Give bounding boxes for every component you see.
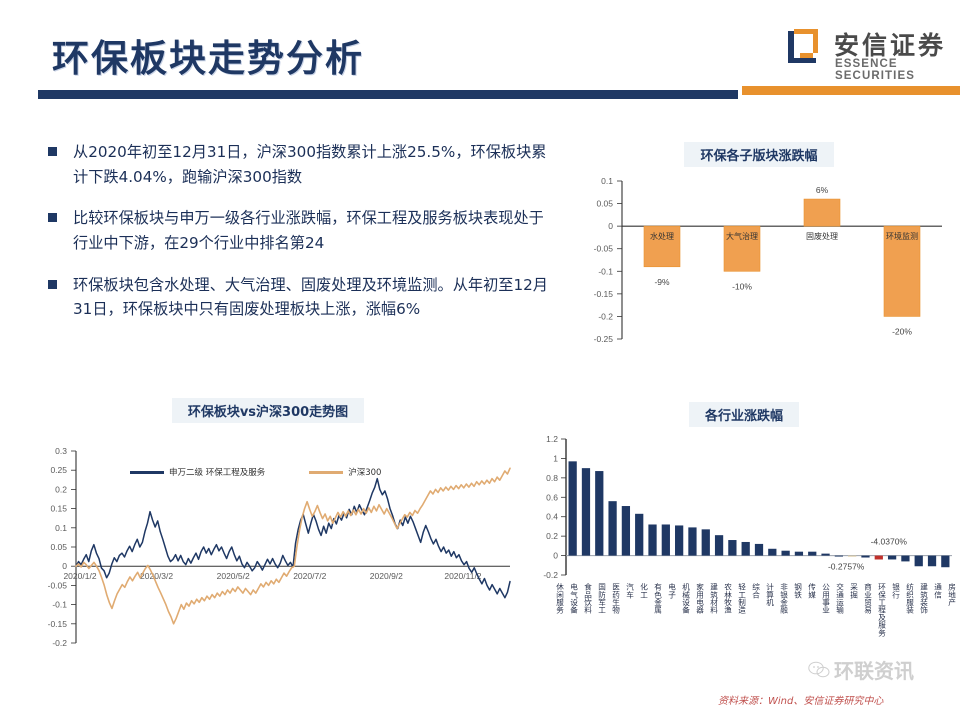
bar xyxy=(728,540,736,556)
bar xyxy=(755,544,763,556)
legend-item-huanbao: 申万二级 环保工程及服务 xyxy=(130,466,265,478)
bar-category-label: 通信 xyxy=(934,583,942,678)
chart-subsector-title-row: 环保各子版块涨跌幅 xyxy=(566,142,952,167)
axis-tick-label: 0.2 xyxy=(55,484,67,494)
bar xyxy=(808,552,816,556)
watermark-text: 环联资讯 xyxy=(834,655,914,684)
watermark: 环联资讯 xyxy=(808,655,914,684)
list-item: 比较环保板块与申万一级各行业涨跌幅，环保工程及服务板块表现处于行业中下游，在29… xyxy=(48,206,548,255)
logo-english-name: ESSENCE SECURITIES xyxy=(835,58,960,82)
axis-tick-label: 0.4 xyxy=(546,512,558,522)
axis-tick-label: 0.1 xyxy=(55,523,67,533)
bar-category-label: 非银金融 xyxy=(780,583,788,678)
legend-swatch-icon xyxy=(309,471,343,474)
chart-trend-canvas: 0.30.250.20.150.10.050-0.05-0.1-0.15-0.2… xyxy=(18,423,518,663)
bar-annotation-label: -4.0370% xyxy=(871,537,908,547)
bar xyxy=(804,199,840,226)
axis-tick-label: 0.05 xyxy=(596,199,613,209)
axis-tick-label: 0.2 xyxy=(546,531,558,541)
axis-tick-label: 2020/1/2 xyxy=(63,571,96,581)
bar-category-label: 房地产 xyxy=(948,583,956,678)
axis-tick-label: 0.6 xyxy=(546,492,558,502)
bar xyxy=(715,535,723,555)
chart-subsector-title: 环保各子版块涨跌幅 xyxy=(684,142,833,167)
bar xyxy=(702,529,710,555)
bar-category-label: 电子 xyxy=(668,583,676,678)
axis-tick-label: -0.1 xyxy=(52,600,67,610)
bar-category-label: 综合 xyxy=(752,583,760,678)
bar-category-label: 国防军工 xyxy=(598,583,606,678)
bar xyxy=(688,527,696,555)
logo-underline xyxy=(742,86,960,95)
axis-tick-label: 2020/5/2 xyxy=(217,571,250,581)
axis-tick-label: -0.2 xyxy=(52,638,67,648)
axis-tick-label: 0 xyxy=(608,221,613,231)
bar xyxy=(795,552,803,556)
chart-subsector-canvas: 0.10.050-0.05-0.1-0.15-0.2-0.25水处理-9%大气治… xyxy=(566,167,952,357)
page-title: 环保板块走势分析 xyxy=(52,28,364,82)
bar xyxy=(941,556,949,568)
bar-category-label: 钢铁 xyxy=(794,583,802,678)
bar-category-label: 建筑材料 xyxy=(710,583,718,678)
bar xyxy=(648,524,656,555)
axis-tick-label: 0 xyxy=(553,551,558,561)
legend-item-hs300: 沪深300 xyxy=(309,466,381,478)
chart-industry-title-row: 各行业涨跌幅 xyxy=(528,402,960,427)
axis-tick-label: -0.15 xyxy=(594,289,614,299)
legend-label: 沪深300 xyxy=(348,466,381,478)
axis-tick-label: -0.05 xyxy=(48,580,68,590)
bar xyxy=(608,501,616,555)
bar xyxy=(742,542,750,556)
bar xyxy=(901,556,909,562)
essence-logo-icon xyxy=(778,27,824,73)
logo-chinese-name: 安信证券 xyxy=(834,26,946,62)
bar-category-label: 建筑装饰 xyxy=(920,583,928,678)
bullet-text: 环保板块包含水处理、大气治理、固废处理及环境监测。从年初至12月31日，环保板块… xyxy=(73,273,548,322)
chart-trend-title: 环保板块vs沪深300走势图 xyxy=(172,398,364,423)
bar-category-label: 计算机 xyxy=(766,583,774,678)
source-note: 资料来源：Wind、安信证券研究中心 xyxy=(718,692,883,707)
bar xyxy=(915,556,923,567)
bar xyxy=(622,506,630,556)
bar-category-label: 家用电器 xyxy=(696,583,704,678)
bar-category-label: 休闲服务 xyxy=(556,583,564,678)
chart-industry-title: 各行业涨跌幅 xyxy=(689,402,799,427)
bar xyxy=(595,471,603,556)
bar xyxy=(662,524,670,555)
axis-tick-label: -0.2 xyxy=(543,570,558,580)
bar xyxy=(928,556,936,567)
bar xyxy=(861,556,869,558)
bar xyxy=(582,468,590,555)
bar-value-label: -10% xyxy=(732,281,752,291)
bar xyxy=(835,556,843,557)
bar-category-label: 有色金属 xyxy=(654,583,662,678)
bar-value-label: -20% xyxy=(892,326,912,336)
bar-category-label: 水处理 xyxy=(650,231,674,241)
bullet-square-icon xyxy=(48,213,57,222)
bar xyxy=(875,556,883,560)
axis-tick-label: 0 xyxy=(62,561,67,571)
chart-trend-legend: 申万二级 环保工程及服务 沪深300 xyxy=(130,466,470,478)
axis-tick-label: -0.25 xyxy=(594,334,614,344)
bar-category-label: 大气治理 xyxy=(726,231,758,241)
axis-tick-label: -0.05 xyxy=(594,244,614,254)
axis-tick-label: 0.25 xyxy=(50,465,67,475)
chart-subsector: 环保各子版块涨跌幅 0.10.050-0.05-0.1-0.15-0.2-0.2… xyxy=(566,142,952,367)
bar-category-label: 环境监测 xyxy=(886,231,918,241)
bar xyxy=(768,549,776,556)
brand-logo: 安信证券 ESSENCE SECURITIES xyxy=(778,24,960,82)
bar-category-label: 化工 xyxy=(640,583,648,678)
bar-annotation-label: -0.2757% xyxy=(828,562,865,572)
axis-tick-label: 0.15 xyxy=(50,504,67,514)
axis-tick-label: 0.1 xyxy=(601,176,613,186)
bar-category-label: 轻工制造 xyxy=(738,583,746,678)
axis-tick-label: 2020/3/2 xyxy=(140,571,173,581)
bar xyxy=(821,554,829,556)
bar-category-label: 农林牧渔 xyxy=(724,583,732,678)
bar-category-label: 固废处理 xyxy=(806,231,838,241)
bar xyxy=(781,551,789,556)
bullet-square-icon xyxy=(48,147,57,156)
bar-value-label: 6% xyxy=(816,185,829,195)
legend-swatch-icon xyxy=(130,471,164,474)
list-item: 从2020年初至12月31日，沪深300指数累计上涨25.5%，环保板块累计下跌… xyxy=(48,140,548,189)
bar xyxy=(675,525,683,555)
bar-category-label: 食品饮料 xyxy=(584,583,592,678)
bar-category-label: 电气设备 xyxy=(570,583,578,678)
bar xyxy=(848,556,856,557)
bullet-square-icon xyxy=(48,280,57,289)
axis-tick-label: -0.1 xyxy=(598,266,613,276)
chart-industry-canvas: 1.210.80.60.40.20-0.2-4.0370%-0.2757% xyxy=(528,427,960,607)
legend-label: 申万二级 环保工程及服务 xyxy=(169,466,265,478)
axis-tick-label: 0.05 xyxy=(50,542,67,552)
axis-tick-label: 0.8 xyxy=(546,473,558,483)
bullet-list: 从2020年初至12月31日，沪深300指数累计上涨25.5%，环保板块累计下跌… xyxy=(48,140,548,339)
bar-category-label: 机械设备 xyxy=(682,583,690,678)
axis-tick-label: 0.3 xyxy=(55,446,67,456)
axis-tick-label: 1 xyxy=(553,453,558,463)
chart-trend-title-row: 环保板块vs沪深300走势图 xyxy=(18,398,518,423)
bar-category-label: 汽车 xyxy=(626,583,634,678)
title-underline xyxy=(38,90,738,99)
bullet-text: 从2020年初至12月31日，沪深300指数累计上涨25.5%，环保板块累计下跌… xyxy=(73,140,548,189)
slide-root: 环保板块走势分析 安信证券 ESSENCE SECURITIES 从2020年初… xyxy=(0,0,960,720)
bar-value-label: -9% xyxy=(654,277,670,287)
chart-trend: 环保板块vs沪深300走势图 0.30.250.20.150.10.050-0.… xyxy=(18,398,518,678)
wechat-icon xyxy=(808,661,830,679)
bar xyxy=(635,514,643,556)
bullet-text: 比较环保板块与申万一级各行业涨跌幅，环保工程及服务板块表现处于行业中下游，在29… xyxy=(73,206,548,255)
bar-category-label: 医药生物 xyxy=(612,583,620,678)
list-item: 环保板块包含水处理、大气治理、固废处理及环境监测。从年初至12月31日，环保板块… xyxy=(48,273,548,322)
bar xyxy=(888,556,896,560)
bar xyxy=(569,461,577,555)
axis-tick-label: -0.2 xyxy=(598,311,613,321)
axis-tick-label: 2020/9/2 xyxy=(370,571,403,581)
axis-tick-label: 2020/7/2 xyxy=(293,571,326,581)
axis-tick-label: -0.15 xyxy=(48,619,68,629)
axis-tick-label: 1.2 xyxy=(546,434,558,444)
